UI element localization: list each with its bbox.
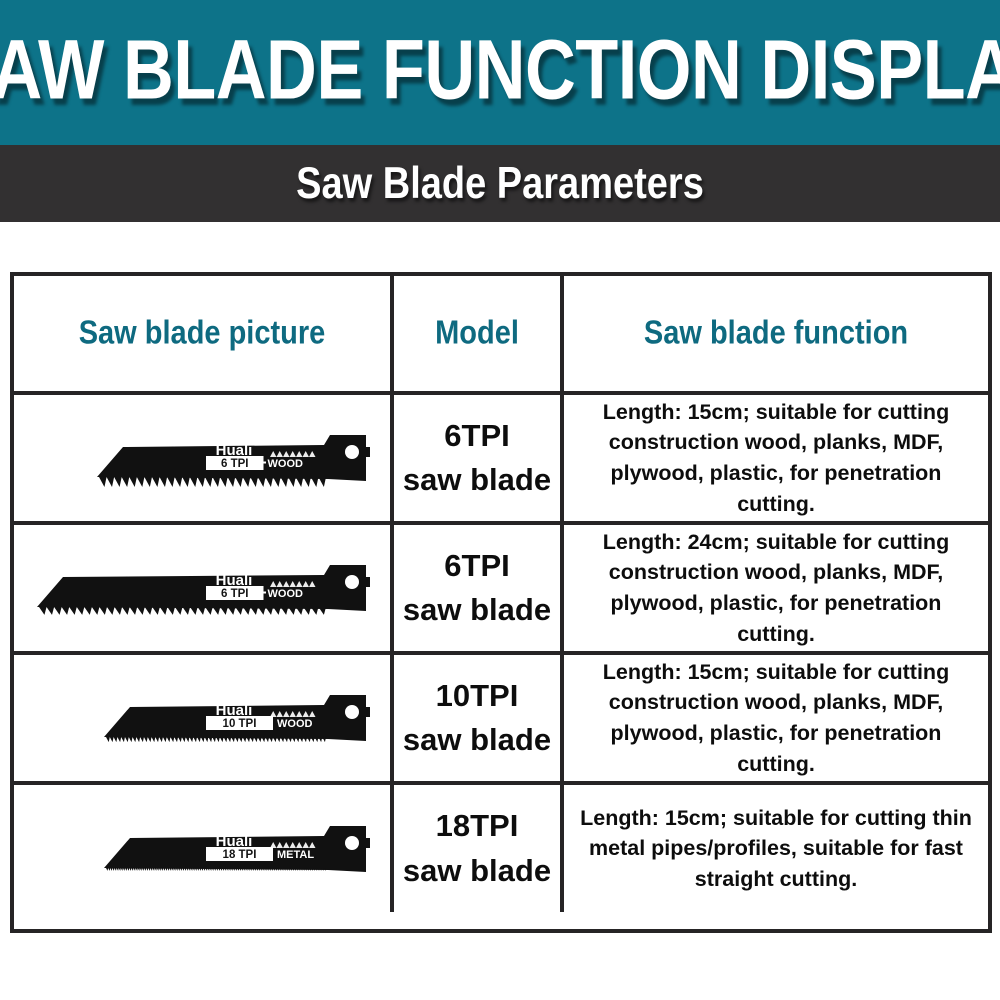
cell-function: Length: 15cm; suitable for cutting const… <box>564 395 988 521</box>
function-description: Length: 24cm; suitable for cutting const… <box>574 527 978 649</box>
blade-graphic: Huali 10 TPI WOOD <box>14 659 390 777</box>
table-body: Huali 6 TPI WOOD 6TPIsaw bladeLength: 15… <box>14 395 988 912</box>
model-name: saw blade <box>403 849 551 893</box>
section-title: Saw Blade Parameters <box>296 161 704 206</box>
blade-graphic: Huali 6 TPI WOOD <box>14 399 390 517</box>
blade-image: Huali 6 TPI WOOD <box>14 525 390 651</box>
function-description: Length: 15cm; suitable for cutting const… <box>574 657 978 779</box>
section-band: Saw Blade Parameters <box>0 145 1000 222</box>
column-header-function: Saw blade function <box>564 276 988 391</box>
table-row: Huali 18 TPI METAL 18TPIsaw bladeLength:… <box>14 785 988 912</box>
cell-blade-picture: Huali 18 TPI METAL <box>14 785 394 912</box>
blade-graphic: Huali 6 TPI WOOD <box>14 529 390 647</box>
cell-function: Length: 15cm; suitable for cutting thin … <box>564 785 988 912</box>
column-header-model-label: Model <box>435 315 519 353</box>
blade-image: Huali 18 TPI METAL <box>14 785 390 912</box>
model-name: saw blade <box>403 718 551 762</box>
model-tpi: 6TPI <box>444 414 509 458</box>
cell-model: 6TPIsaw blade <box>394 525 564 651</box>
model-tpi: 6TPI <box>444 544 509 588</box>
cell-function: Length: 15cm; suitable for cutting const… <box>564 655 988 781</box>
blade-tpi-text: 6 TPI <box>221 588 248 600</box>
blade-tpi-text: 18 TPI <box>223 849 257 861</box>
table-row: Huali 10 TPI WOOD 10TPIsaw bladeLength: … <box>14 655 988 785</box>
table-header-row: Saw blade picture Model Saw blade functi… <box>14 276 988 395</box>
function-description: Length: 15cm; suitable for cutting thin … <box>574 803 978 895</box>
model-name: saw blade <box>403 588 551 632</box>
blade-material-text: METAL <box>277 849 314 861</box>
column-header-function-label: Saw blade function <box>644 315 908 353</box>
cell-model: 6TPIsaw blade <box>394 395 564 521</box>
parameters-table: Saw blade picture Model Saw blade functi… <box>10 272 992 933</box>
model-tpi: 18TPI <box>436 804 519 848</box>
blade-material-text: WOOD <box>268 588 303 600</box>
column-header-picture: Saw blade picture <box>14 276 394 391</box>
cell-blade-picture: Huali 6 TPI WOOD <box>14 525 394 651</box>
cell-blade-picture: Huali 6 TPI WOOD <box>14 395 394 521</box>
page-banner: SAW BLADE FUNCTION DISPLAY <box>0 0 1000 145</box>
blade-graphic: Huali 18 TPI METAL <box>14 790 390 908</box>
blade-image: Huali 6 TPI WOOD <box>14 395 390 521</box>
blade-tpi-text: 10 TPI <box>223 718 257 730</box>
cell-blade-picture: Huali 10 TPI WOOD <box>14 655 394 781</box>
cell-model: 10TPIsaw blade <box>394 655 564 781</box>
cell-model: 18TPIsaw blade <box>394 785 564 912</box>
blade-tpi-text: 6 TPI <box>221 458 248 470</box>
cell-function: Length: 24cm; suitable for cutting const… <box>564 525 988 651</box>
function-description: Length: 15cm; suitable for cutting const… <box>574 397 978 519</box>
blade-image: Huali 10 TPI WOOD <box>14 655 390 781</box>
model-name: saw blade <box>403 458 551 502</box>
column-header-model: Model <box>394 276 564 391</box>
table-row: Huali 6 TPI WOOD 6TPIsaw bladeLength: 24… <box>14 525 988 655</box>
table-row: Huali 6 TPI WOOD 6TPIsaw bladeLength: 15… <box>14 395 988 525</box>
blade-material-text: WOOD <box>268 458 303 470</box>
page-title: SAW BLADE FUNCTION DISPLAY <box>0 28 1000 117</box>
column-header-picture-label: Saw blade picture <box>79 315 326 353</box>
blade-material-text: WOOD <box>277 718 312 730</box>
model-tpi: 10TPI <box>436 674 519 718</box>
